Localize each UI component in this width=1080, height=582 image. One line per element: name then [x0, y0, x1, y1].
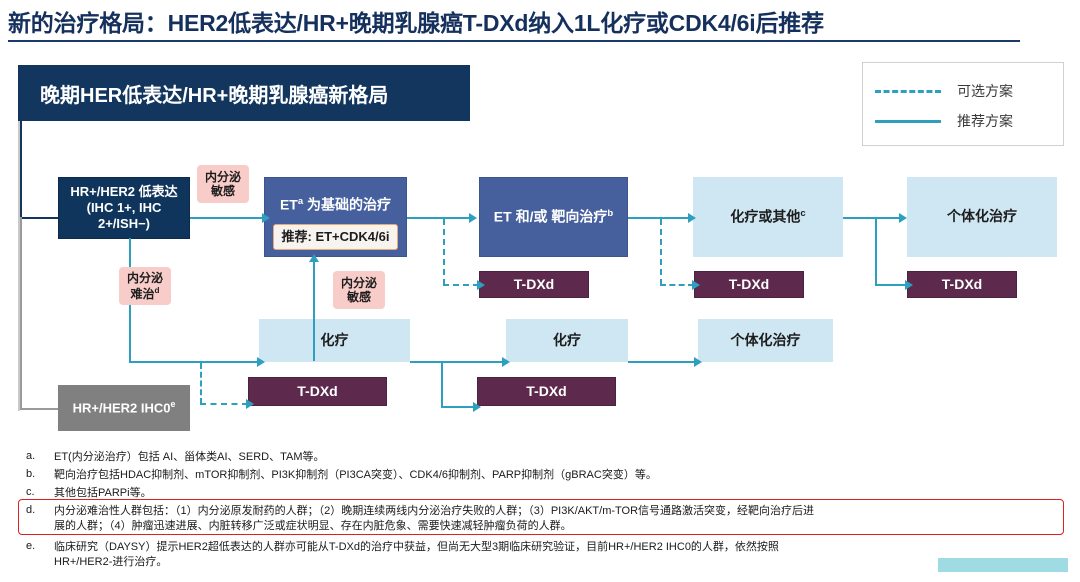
node-et-based-label: ETa 为基础的治疗	[280, 196, 391, 214]
legend-item-recommended: 推荐方案	[875, 109, 1013, 133]
node-tdxd-bottom-middle[interactable]: T-DXd	[477, 377, 616, 406]
solid-line-icon	[875, 120, 941, 123]
footnote-d: d. 内分泌难治性人群包括：（1）内分泌原发耐药的人群；（2）晚期连续两线内分泌…	[26, 504, 814, 534]
node-et-based-recommendation: 推荐: ET+CDK4/6i	[273, 224, 398, 250]
tag-endocrine-sensitive-2: 内分泌 敏感	[333, 271, 385, 309]
connector-et-to-targeted	[407, 217, 473, 219]
node-hr-her2-low-label: HR+/HER2 低表达 (IHC 1+, IHC 2+/ISH−)	[59, 184, 189, 233]
tag-endocrine-refractory: 内分泌 难治d	[119, 267, 171, 305]
connector-grey-spine	[20, 217, 22, 409]
node-tdxd-label: T-DXd	[514, 276, 554, 294]
diagram-banner: 晚期HER低表达/HR+晚期乳腺癌新格局	[18, 65, 470, 121]
connector-chemo-branch-down	[441, 361, 443, 408]
dashed-connector-to-tdxd-3	[660, 219, 662, 285]
connector-to-hr-her2-low	[20, 217, 58, 219]
footnote-a: a. ET(内分泌治疗）包括 AI、甾体类AI、SERD、TAM等。	[26, 450, 325, 465]
arrow-chemo2-to-personalized2	[694, 357, 702, 367]
footnote-c-key: c.	[26, 486, 54, 501]
node-tdxd-bottom-left[interactable]: T-DXd	[248, 377, 387, 406]
footnote-marker-d: d	[155, 286, 160, 295]
node-tdxd-label: T-DXd	[526, 383, 566, 401]
arrow-low-to-et	[262, 213, 270, 223]
node-tdxd-under-chemo-other[interactable]: T-DXd	[694, 271, 804, 298]
legend: 可选方案 推荐方案	[862, 62, 1064, 146]
arrow-dashed-to-tdxd-3	[692, 280, 700, 290]
node-hr-her2-ihc0[interactable]: HR+/HER2 IHC0e	[58, 385, 190, 431]
connector-chemo-to-chemo2	[410, 361, 506, 363]
node-tdxd-under-targeted[interactable]: T-DXd	[479, 271, 589, 298]
diagram-banner-label: 晚期HER低表达/HR+晚期乳腺癌新格局	[18, 79, 388, 108]
tag-label: 内分泌 难治d	[127, 271, 163, 301]
node-hr-her2-ihc0-label: HR+/HER2 IHC0e	[73, 399, 176, 417]
tag-endocrine-sensitive-1: 内分泌 敏感	[197, 165, 249, 203]
node-chemo-label: 化疗	[553, 332, 581, 350]
connector-chemo2-to-personalized2	[628, 361, 698, 363]
footnote-e-text: 临床研究（DAYSY）提示HER2超低表达的人群亦可能从T-DXd的治疗中获益，…	[54, 540, 779, 570]
footnote-b: b. 靶向治疗包括HDAC抑制剂、mTOR抑制剂、PI3K抑制剂（PI3CA突变…	[26, 468, 657, 483]
legend-item-optional: 可选方案	[875, 79, 1013, 103]
arrow-targeted-to-chemo-other	[688, 213, 696, 223]
arrow-dashed-to-tdxd-2	[477, 280, 485, 290]
connector-banner-spine	[20, 121, 22, 218]
legend-label-recommended: 推荐方案	[957, 111, 1013, 131]
page-title: 新的治疗格局：HER2低表达/HR+晚期乳腺癌T-DXd纳入1L化疗或CDK4/…	[8, 4, 824, 38]
dashed-connector-tdxd-3-h	[660, 284, 694, 286]
node-et-and-or-targeted-label: ET 和/或 靶向治疗b	[494, 208, 613, 226]
node-personalized-top[interactable]: 个体化治疗	[907, 177, 1057, 257]
node-chemo-or-other[interactable]: 化疗或其他c	[693, 177, 843, 257]
dashed-connector-tdxd-2-h	[443, 284, 479, 286]
node-tdxd-label: T-DXd	[297, 383, 337, 401]
tag-label: 内分泌 敏感	[205, 170, 241, 199]
footnote-a-text: ET(内分泌治疗）包括 AI、甾体类AI、SERD、TAM等。	[54, 450, 325, 465]
title-divider	[8, 40, 1020, 42]
footnote-e-key: e.	[26, 540, 54, 570]
node-tdxd-label: T-DXd	[729, 276, 769, 294]
title-bar: 新的治疗格局：HER2低表达/HR+晚期乳腺癌T-DXd纳入1L化疗或CDK4/…	[0, 0, 1080, 46]
arrow-low-to-chemo	[257, 357, 265, 367]
dashed-connector-tdxd-1-h	[200, 403, 248, 405]
connector-to-ihc0	[20, 408, 58, 410]
arrow-et-to-targeted	[469, 213, 477, 223]
arrow-personalized-to-tdxd	[905, 280, 913, 290]
node-chemo-label: 化疗	[321, 332, 349, 350]
node-personalized-label: 个体化治疗	[731, 332, 801, 350]
footnote-marker-c: c	[800, 208, 805, 219]
connector-chemo-to-tdxd-bottom	[441, 406, 477, 408]
connector-chemo-other-to-personalized	[843, 217, 903, 219]
node-chemo-row2-b[interactable]: 化疗	[506, 319, 628, 362]
node-et-and-or-targeted[interactable]: ET 和/或 靶向治疗b	[479, 177, 628, 257]
treatment-flow-diagram: 晚期HER低表达/HR+晚期乳腺癌新格局 可选方案 推荐方案	[0, 46, 1080, 446]
node-tdxd-under-personalized[interactable]: T-DXd	[907, 271, 1017, 298]
node-personalized-top-label: 个体化治疗	[947, 208, 1017, 226]
node-personalized-row2[interactable]: 个体化治疗	[698, 319, 833, 362]
footnote-c: c. 其他包括PARPi等。	[26, 486, 152, 501]
footnote-b-text: 靶向治疗包括HDAC抑制剂、mTOR抑制剂、PI3K抑制剂（PI3CA突变）、C…	[54, 468, 657, 483]
node-chemo-row2-a[interactable]: 化疗	[259, 319, 410, 362]
node-hr-her2-low[interactable]: HR+/HER2 低表达 (IHC 1+, IHC 2+/ISH−)	[58, 177, 190, 239]
connector-low-to-chemo	[129, 361, 259, 363]
footnote-a-key: a.	[26, 450, 54, 465]
dashed-connector-to-tdxd-1	[200, 363, 202, 404]
arrow-chemo-up-to-et	[309, 254, 319, 262]
tag-label: 内分泌 敏感	[341, 276, 377, 305]
connector-chemo-up-to-et	[313, 261, 315, 361]
legend-label-optional: 可选方案	[957, 81, 1013, 101]
footnote-e: e. 临床研究（DAYSY）提示HER2超低表达的人群亦可能从T-DXd的治疗中…	[26, 540, 779, 570]
node-et-based[interactable]: ETa 为基础的治疗 推荐: ET+CDK4/6i	[264, 177, 407, 257]
footnote-d-key: d.	[26, 504, 54, 534]
arrow-chemo-other-to-personalized	[899, 213, 907, 223]
footnote-marker-b: b	[607, 208, 613, 219]
connector-personalized-to-tdxd	[875, 284, 907, 286]
connector-personalized-down	[875, 219, 877, 285]
footnote-e-highlight-bar	[938, 558, 1068, 572]
arrow-dashed-to-tdxd-1	[246, 399, 254, 409]
footnote-b-key: b.	[26, 468, 54, 483]
dashed-line-icon	[875, 90, 941, 93]
footnote-d-text: 内分泌难治性人群包括：（1）内分泌原发耐药的人群；（2）晚期连续两线内分泌治疗失…	[54, 504, 814, 534]
footnote-c-text: 其他包括PARPi等。	[54, 486, 152, 501]
footnote-marker-e: e	[170, 399, 175, 409]
connector-low-to-et	[190, 217, 264, 219]
node-chemo-or-other-label: 化疗或其他c	[730, 208, 805, 226]
arrow-chemo-to-tdxd-bottom	[473, 402, 481, 412]
arrow-chemo-to-chemo2	[502, 357, 510, 367]
dashed-connector-to-tdxd-2	[443, 219, 445, 285]
footnotes: a. ET(内分泌治疗）包括 AI、甾体类AI、SERD、TAM等。 b. 靶向…	[0, 446, 1080, 582]
node-tdxd-label: T-DXd	[942, 276, 982, 294]
